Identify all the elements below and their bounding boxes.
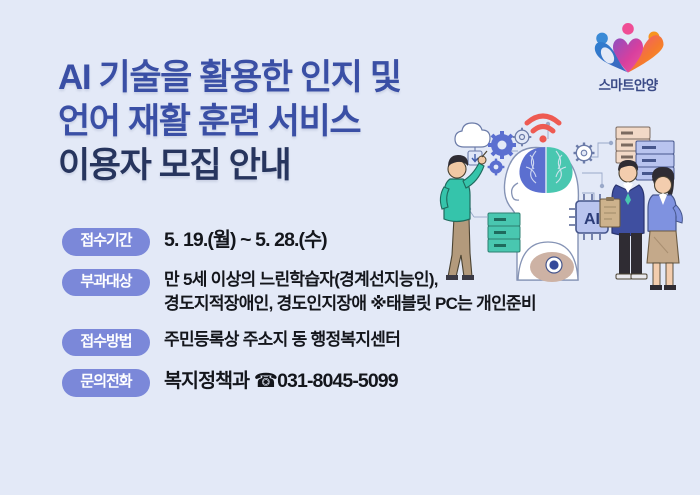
- logo-text: 스마트안양: [580, 79, 676, 93]
- status-badge-contact: 문의전화: [62, 369, 150, 397]
- headline-line-1: AI 기술을 활용한 인지 및: [58, 56, 478, 100]
- status-badge-method: 접수방법: [62, 329, 150, 357]
- ai-illustration-svg: AI: [430, 105, 698, 290]
- info-line: 복지정책과 ☎031-8045-5099: [164, 368, 398, 396]
- info-line: 경도지적장애인, 경도인지장애 ※태블릿 PC는 개인준비: [164, 292, 536, 316]
- page-title: AI 기술을 활용한 인지 및 언어 재활 훈련 서비스 이용자 모집 안내: [58, 56, 478, 188]
- logo-mark-icon: [587, 22, 669, 78]
- info-row-method: 접수방법 주민등록상 주소지 동 행정복지센터: [62, 327, 662, 357]
- person-pointing-icon: [440, 151, 487, 280]
- info-value-contact: 복지정책과 ☎031-8045-5099: [164, 367, 398, 396]
- wifi-icon: [527, 116, 559, 143]
- status-badge-application-period: 접수기간: [62, 228, 150, 256]
- headline-line-3: 이용자 모집 안내: [58, 144, 478, 188]
- ai-illustration: AI: [430, 105, 698, 290]
- info-line: 주민등록상 주소지 동 행정복지센터: [164, 328, 400, 352]
- poster-root: 스마트안양 AI 기술을 활용한 인지 및 언어 재활 훈련 서비스 이용자 모…: [0, 0, 700, 495]
- info-value-application-period: 5. 19.(월) ~ 5. 28.(수): [164, 226, 327, 255]
- smart-anyang-logo: 스마트안양: [580, 22, 676, 93]
- headline-line-2: 언어 재활 훈련 서비스: [58, 100, 478, 144]
- info-value-method: 주민등록상 주소지 동 행정복지센터: [164, 327, 400, 352]
- info-row-contact: 문의전화 복지정책과 ☎031-8045-5099: [62, 367, 662, 397]
- status-badge-target: 부과대상: [62, 269, 150, 297]
- ai-chip-label: AI: [584, 211, 600, 228]
- info-line: 5. 19.(월) ~ 5. 28.(수): [164, 227, 327, 255]
